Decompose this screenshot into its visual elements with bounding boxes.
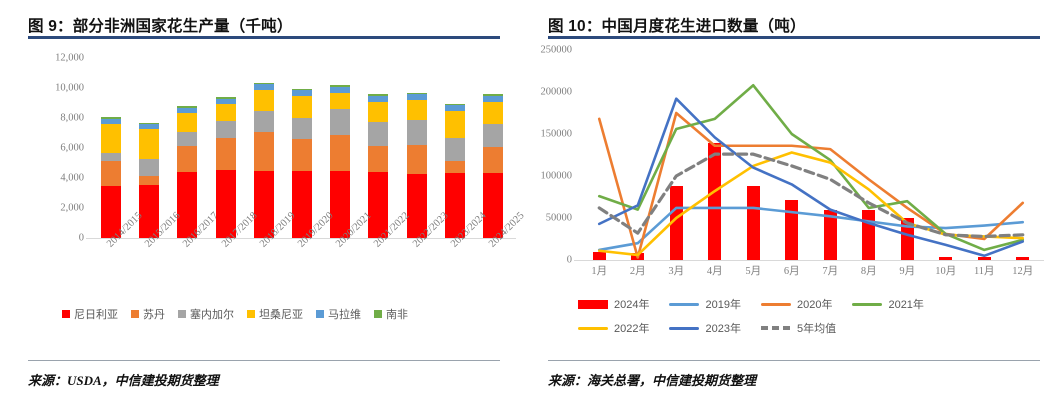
legend-swatch-icon [247, 310, 255, 318]
legend-item-尼日利亚[interactable]: 尼日利亚 [62, 306, 118, 322]
figure-10-title-rule [548, 36, 1040, 39]
legend-label: 马拉维 [328, 306, 361, 322]
legend-swatch-icon [131, 310, 139, 318]
bar-segment-坦桑尼亚 [292, 96, 312, 118]
figure-10-lines [580, 50, 1042, 260]
legend-label: 2024年 [614, 296, 649, 312]
legend-label: 5年均值 [797, 320, 836, 336]
legend-item-南非[interactable]: 南非 [374, 306, 408, 322]
bar-segment-坦桑尼亚 [445, 111, 465, 137]
figure-9-y-tick: 12,000 [55, 53, 84, 64]
legend-swatch-icon [316, 310, 324, 318]
figure-9-y-tick: 10,000 [55, 83, 84, 94]
stacked-bar-column [254, 58, 274, 238]
figure-10-source: 来源：海关总署，中信建投期货整理 [548, 370, 756, 389]
stacked-bar-column [177, 58, 197, 238]
bar-segment-马拉维 [407, 94, 427, 100]
bar-segment-苏丹 [330, 135, 350, 171]
figure-10-x-tick: 12月 [1004, 263, 1043, 278]
bar-segment-塞内加尔 [407, 120, 427, 145]
figure-10-x-tick: 6月 [773, 263, 812, 278]
bar-segment-塞内加尔 [177, 132, 197, 146]
bar-segment-马拉维 [177, 108, 197, 113]
figure-9-y-axis: 02,0004,0006,0008,00010,00012,000 [0, 0, 84, 238]
figure-10-series-area [580, 50, 1042, 260]
figure-9-y-tick: 4,000 [60, 173, 84, 184]
bar-segment-南非 [330, 85, 350, 87]
bar-segment-苏丹 [139, 176, 159, 185]
bar-segment-马拉维 [330, 87, 350, 93]
bar-segment-坦桑尼亚 [139, 129, 159, 160]
bar-segment-苏丹 [407, 145, 427, 174]
legend-label: 2023年 [705, 320, 740, 336]
bar-segment-南非 [483, 94, 503, 96]
bar-segment-南非 [177, 106, 197, 108]
figure-10-x-tick: 1月 [580, 263, 619, 278]
bar-segment-马拉维 [216, 99, 236, 104]
bar-segment-南非 [101, 117, 121, 119]
figure-9-panel: 图 9：部分非洲国家花生产量（千吨） 02,0004,0006,0008,000… [0, 0, 530, 405]
figure-9-title-rule [28, 36, 500, 39]
stacked-bar-column [101, 58, 121, 238]
bar-segment-塞内加尔 [216, 121, 236, 138]
bar-segment-塞内加尔 [330, 109, 350, 135]
figure-9-bars [92, 58, 512, 238]
legend-label: 2021年 [888, 296, 923, 312]
bar-segment-坦桑尼亚 [483, 102, 503, 125]
bar-segment-坦桑尼亚 [330, 93, 350, 110]
stacked-bar-column [368, 58, 388, 238]
stacked-bar-column [407, 58, 427, 238]
figure-10-x-tick: 10月 [927, 263, 966, 278]
legend-item-5年均值[interactable]: 5年均值 [761, 320, 836, 336]
legend-item-塞内加尔[interactable]: 塞内加尔 [178, 306, 234, 322]
legend-label: 苏丹 [143, 306, 165, 322]
bar-segment-苏丹 [445, 161, 465, 173]
bar-segment-塞内加尔 [368, 122, 388, 146]
figure-10-baseline [574, 260, 1044, 261]
figure-10-y-tick: 150000 [541, 129, 573, 140]
legend-swatch-icon [178, 310, 186, 318]
bar-segment-南非 [292, 89, 312, 91]
bar-segment-南非 [139, 123, 159, 124]
bar-segment-马拉维 [254, 84, 274, 90]
bar-segment-南非 [216, 97, 236, 99]
legend-line-swatch-icon [852, 303, 882, 306]
legend-item-2020年[interactable]: 2020年 [761, 296, 832, 312]
figure-9-y-tick: 6,000 [60, 143, 84, 154]
legend-label: 南非 [386, 306, 408, 322]
figure-10-y-axis: 050000100000150000200000250000 [530, 0, 572, 260]
figure-10-x-tick: 4月 [696, 263, 735, 278]
legend-label: 坦桑尼亚 [259, 306, 303, 322]
figure-9-legend: 尼日利亚苏丹塞内加尔坦桑尼亚马拉维南非 [62, 306, 408, 322]
legend-label: 2020年 [797, 296, 832, 312]
legend-item-坦桑尼亚[interactable]: 坦桑尼亚 [247, 306, 303, 322]
bar-segment-塞内加尔 [139, 159, 159, 176]
figure-10-x-tick: 7月 [811, 263, 850, 278]
bar-segment-苏丹 [216, 138, 236, 170]
bar-segment-苏丹 [254, 132, 274, 171]
legend-item-马拉维[interactable]: 马拉维 [316, 306, 361, 322]
figure-10-footer-rule [548, 360, 1040, 361]
bar-segment-塞内加尔 [254, 111, 274, 131]
legend-label: 2019年 [705, 296, 740, 312]
bar-segment-马拉维 [368, 96, 388, 102]
figure-10-y-tick: 50000 [546, 213, 572, 224]
figure-10-x-tick: 11月 [965, 263, 1004, 278]
stacked-bar-column [445, 58, 465, 238]
stacked-bar-column [216, 58, 236, 238]
bar-segment-坦桑尼亚 [177, 113, 197, 133]
figure-10-x-tick: 2月 [619, 263, 658, 278]
legend-swatch-icon [62, 310, 70, 318]
bar-segment-塞内加尔 [445, 138, 465, 161]
legend-item-2023年[interactable]: 2023年 [669, 320, 740, 336]
bar-segment-苏丹 [368, 146, 388, 172]
bar-segment-马拉维 [101, 119, 121, 124]
stacked-bar-column [330, 58, 350, 238]
bar-segment-南非 [254, 83, 274, 85]
legend-row: 2022年2023年5年均值 [578, 320, 1048, 336]
bar-segment-苏丹 [292, 139, 312, 171]
figure-10-x-tick: 8月 [850, 263, 889, 278]
bar-segment-塞内加尔 [101, 153, 121, 161]
legend-label: 塞内加尔 [190, 306, 234, 322]
bar-segment-南非 [407, 93, 427, 94]
figure-10-y-tick: 200000 [541, 87, 573, 98]
stacked-bar-column [483, 58, 503, 238]
legend-swatch-icon [374, 310, 382, 318]
bar-segment-马拉维 [292, 90, 312, 96]
figure-9-y-tick: 2,000 [60, 203, 84, 214]
figure-10-y-tick: 250000 [541, 45, 573, 56]
report-figures-page: 图 9：部分非洲国家花生产量（千吨） 02,0004,0006,0008,000… [0, 0, 1060, 405]
bar-segment-马拉维 [445, 105, 465, 111]
bar-segment-马拉维 [139, 124, 159, 129]
legend-bar-swatch-icon [578, 300, 608, 309]
stacked-bar-column [139, 58, 159, 238]
bar-segment-苏丹 [483, 147, 503, 173]
legend-row: 2024年2019年2020年2021年 [578, 296, 1048, 312]
legend-item-2021年[interactable]: 2021年 [852, 296, 923, 312]
line-series-2019年 [599, 208, 1023, 250]
figure-10-x-tick: 5月 [734, 263, 773, 278]
figure-10-y-tick: 100000 [541, 171, 573, 182]
figure-9-source: 来源：USDA，中信建投期货整理 [28, 370, 219, 389]
figure-10-legend: 2024年2019年2020年2021年2022年2023年5年均值 [578, 296, 1048, 344]
bar-segment-马拉维 [483, 96, 503, 102]
bar-segment-坦桑尼亚 [254, 90, 274, 111]
figure-9-footer-rule [28, 360, 500, 361]
figure-10-title: 图 10：中国月度花生进口数量（吨） [548, 14, 806, 36]
legend-item-2022年[interactable]: 2022年 [578, 320, 649, 336]
bar-segment-坦桑尼亚 [101, 124, 121, 153]
legend-item-2019年[interactable]: 2019年 [669, 296, 740, 312]
bar-segment-坦桑尼亚 [216, 104, 236, 121]
figure-9-y-tick: 0 [79, 233, 84, 244]
legend-item-苏丹[interactable]: 苏丹 [131, 306, 165, 322]
legend-dashed-line-icon [761, 326, 791, 330]
figure-10-panel: 图 10：中国月度花生进口数量（吨） 050000100000150000200… [530, 0, 1060, 405]
bar-segment-苏丹 [177, 146, 197, 172]
legend-line-swatch-icon [669, 303, 699, 306]
legend-item-2024年[interactable]: 2024年 [578, 296, 649, 312]
stacked-bar-column [292, 58, 312, 238]
legend-line-swatch-icon [761, 303, 791, 306]
figure-10-x-tick: 3月 [657, 263, 696, 278]
figure-10-y-tick: 0 [567, 255, 572, 266]
figure-10-x-tick: 9月 [888, 263, 927, 278]
bar-segment-坦桑尼亚 [368, 102, 388, 122]
bar-segment-南非 [445, 104, 465, 105]
bar-segment-塞内加尔 [483, 124, 503, 147]
legend-line-swatch-icon [578, 327, 608, 330]
bar-segment-塞内加尔 [292, 118, 312, 139]
figure-9-y-tick: 8,000 [60, 113, 84, 124]
bar-segment-苏丹 [101, 161, 121, 187]
bar-segment-南非 [368, 94, 388, 96]
bar-segment-坦桑尼亚 [407, 100, 427, 120]
legend-line-swatch-icon [669, 327, 699, 330]
legend-label: 尼日利亚 [74, 306, 118, 322]
legend-label: 2022年 [614, 320, 649, 336]
